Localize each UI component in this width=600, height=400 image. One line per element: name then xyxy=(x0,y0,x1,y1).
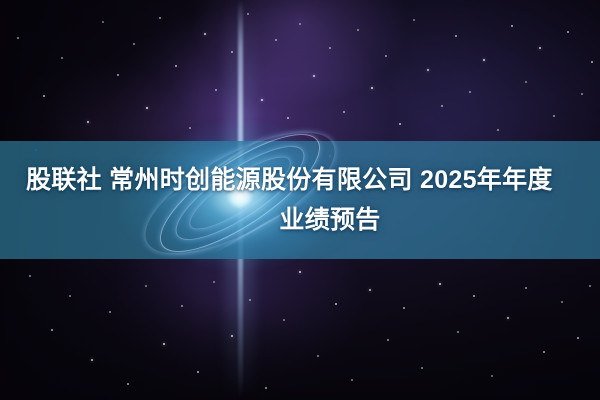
title-line-2: 业绩预告 xyxy=(26,200,574,240)
banner-image: 股联社 常州时创能源股份有限公司 2025年年度 业绩预告 xyxy=(0,0,600,400)
title-line-1: 股联社 常州时创能源股份有限公司 2025年年度 xyxy=(26,160,574,200)
title-block: 股联社 常州时创能源股份有限公司 2025年年度 业绩预告 xyxy=(0,141,600,259)
